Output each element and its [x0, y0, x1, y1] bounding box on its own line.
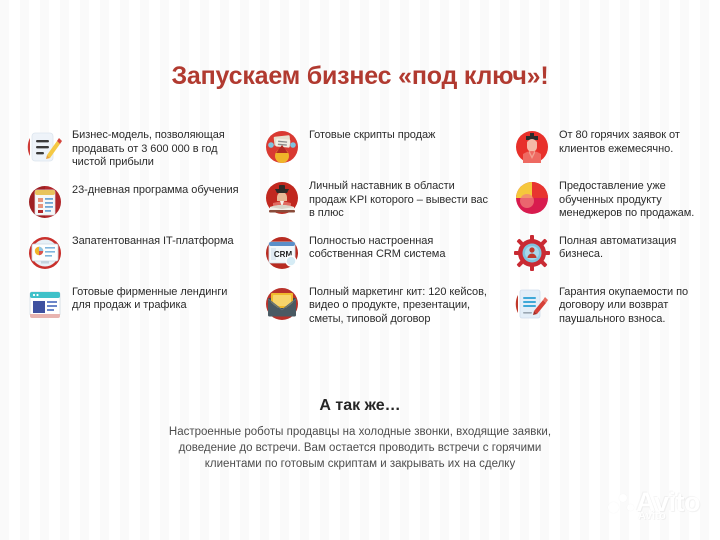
marketing-kit-envelope-icon — [263, 285, 301, 323]
document-with-pencil-icon — [26, 128, 64, 166]
feature-item: Личный наставник в области продаж KPI ко… — [263, 179, 488, 221]
feature-item: Гарантия окупаемости по договору или воз… — [513, 285, 713, 327]
feature-item: Запатентованная IT-платформа — [26, 234, 241, 272]
feature-label: Запатентованная IT-платформа — [72, 234, 234, 249]
feature-label: Полностью настроенная собственная CRM си… — [309, 234, 488, 262]
features-grid: Бизнес-модель, позволяющая продавать от … — [0, 128, 720, 378]
sales-scripts-icon — [263, 128, 301, 166]
hot-leads-person-icon — [513, 128, 551, 166]
feature-item: Предоставление уже обученных продукту ме… — [513, 179, 713, 221]
crm-system-icon: CRM — [263, 234, 301, 272]
feature-item: Бизнес-модель, позволяющая продавать от … — [26, 128, 241, 170]
also-heading: А так же… — [0, 397, 720, 415]
calendar-program-icon — [26, 183, 64, 221]
trained-managers-pie-icon — [513, 179, 551, 217]
feature-item: 23-дневная программа обучения — [26, 183, 241, 221]
feature-label: Предоставление уже обученных продукту ме… — [559, 179, 713, 221]
guarantee-contract-icon — [513, 285, 551, 323]
feature-label: Гарантия окупаемости по договору или воз… — [559, 285, 713, 327]
automation-gear-icon — [513, 234, 551, 272]
feature-item: Полная автоматизация бизнеса. — [513, 234, 713, 272]
feature-column-1: Бизнес-модель, позволяющая продавать от … — [26, 128, 241, 336]
mentor-person-icon — [263, 179, 301, 217]
feature-column-3: От 80 горячих заявок от клиентов ежемеся… — [513, 128, 713, 339]
feature-item: Полный маркетинг кит: 120 кейсов, видео … — [263, 285, 488, 327]
feature-label: Готовые фирменные лендинги для продаж и … — [72, 285, 241, 313]
also-body-text: Настроенные роботы продавцы на холодные … — [150, 424, 570, 472]
feature-item: Готовые скрипты продаж — [263, 128, 488, 166]
feature-label: Готовые скрипты продаж — [309, 128, 435, 143]
feature-label: Личный наставник в области продаж KPI ко… — [309, 179, 488, 221]
feature-item: От 80 горячих заявок от клиентов ежемеся… — [513, 128, 713, 166]
feature-label: Полный маркетинг кит: 120 кейсов, видео … — [309, 285, 488, 327]
feature-column-2: Готовые скрипты продаж Личный наставник … — [263, 128, 488, 339]
browser-landing-page-icon — [26, 285, 64, 323]
monitor-platform-icon — [26, 234, 64, 272]
feature-item: Готовые фирменные лендинги для продаж и … — [26, 285, 241, 323]
feature-label: 23-дневная программа обучения — [72, 183, 239, 198]
feature-label: Бизнес-модель, позволяющая продавать от … — [72, 128, 241, 170]
feature-item: CRM Полностью настроенная собственная CR… — [263, 234, 488, 272]
page-title: Запускаем бизнес «под ключ»! — [0, 62, 720, 91]
feature-label: Полная автоматизация бизнеса. — [559, 234, 713, 262]
feature-label: От 80 горячих заявок от клиентов ежемеся… — [559, 128, 713, 156]
